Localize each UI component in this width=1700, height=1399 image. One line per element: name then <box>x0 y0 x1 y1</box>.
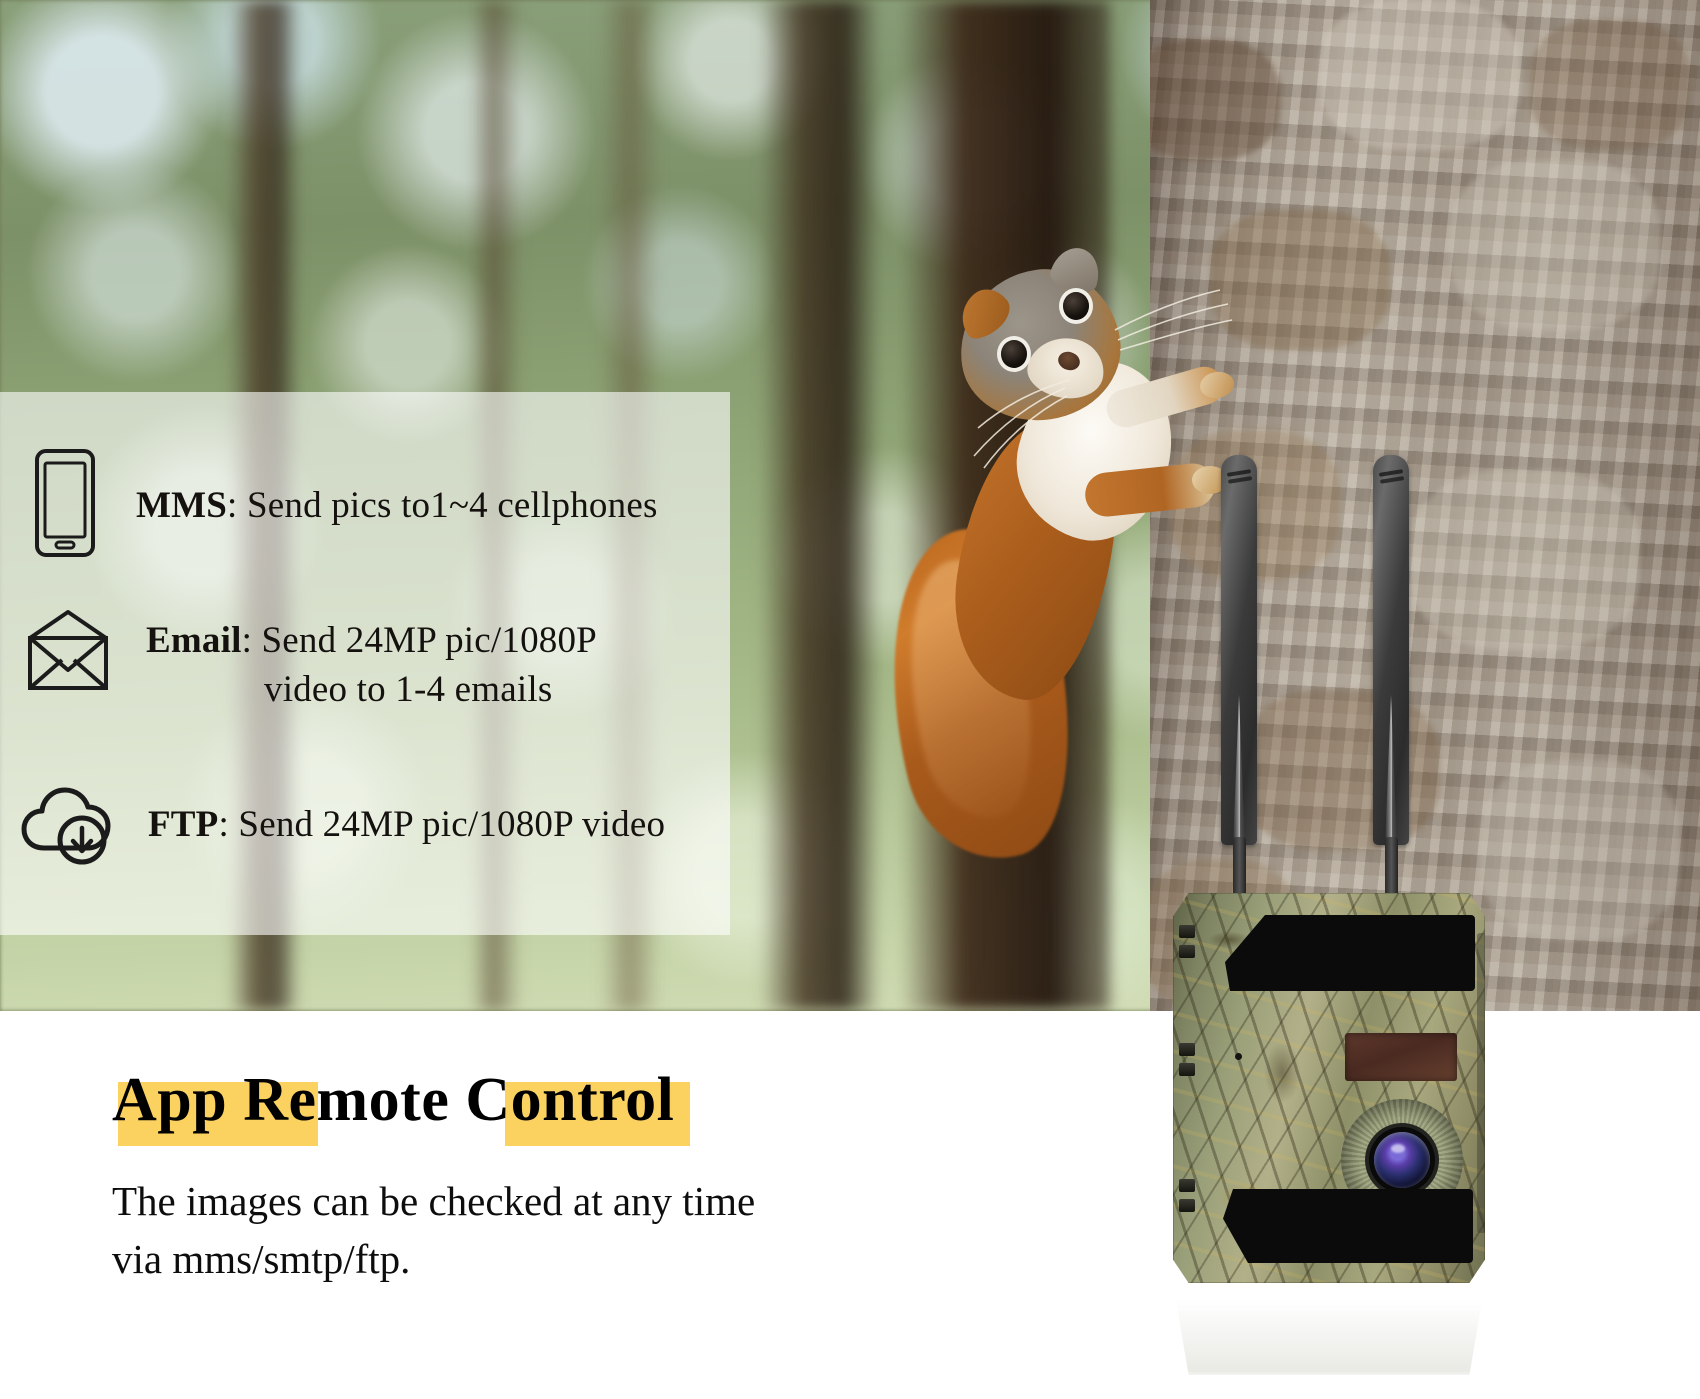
feature-row-ftp: FTP: Send 24MP pic/1080P video <box>20 782 665 873</box>
page-title: App Remote Control <box>112 1065 674 1136</box>
hinge <box>1179 945 1195 958</box>
feature-text-email: Email: Send 24MP pic/1080P video to 1-4 … <box>146 616 597 714</box>
antenna-right-icon <box>1373 455 1409 845</box>
camera-body <box>1173 893 1485 1283</box>
feature-email-line2: video to 1-4 emails <box>146 665 597 714</box>
ir-led-panel-bottom <box>1223 1189 1473 1263</box>
body-line-2: via mms/smtp/ftp. <box>112 1230 755 1288</box>
feature-description-ftp: Send 24MP pic/1080P video <box>229 804 665 845</box>
feature-text-mms: MMS: Send pics to1~4 cellphones <box>136 481 658 530</box>
hinge <box>1179 925 1195 938</box>
feature-separator: : <box>218 804 228 845</box>
feature-row-email: Email: Send 24MP pic/1080P video to 1-4 … <box>22 604 597 714</box>
ir-led-panel-top <box>1225 915 1475 991</box>
camera-lens <box>1374 1132 1430 1188</box>
feature-label-mms: MMS <box>136 485 227 526</box>
feature-row-mms: MMS: Send pics to1~4 cellphones <box>28 447 658 564</box>
feature-email-line1: Email: Send 24MP pic/1080P <box>146 616 597 665</box>
feature-list: MMS: Send pics to1~4 cellphones Email: S… <box>0 392 730 935</box>
page-title-text: App Remote Control <box>112 1066 674 1134</box>
envelope-icon <box>22 604 114 701</box>
antenna-left-icon <box>1221 455 1257 845</box>
body-line-1: The images can be checked at any time <box>112 1172 755 1230</box>
feature-separator: : <box>227 485 237 526</box>
hinge <box>1179 1199 1195 1212</box>
feature-text-ftp: FTP: Send 24MP pic/1080P video <box>148 800 665 849</box>
hinge <box>1179 1179 1195 1192</box>
background-tree-trunk <box>760 0 880 1011</box>
feature-separator: : <box>242 620 252 661</box>
smartphone-icon <box>28 447 102 564</box>
hinge <box>1179 1043 1195 1056</box>
hinge <box>1179 1063 1195 1076</box>
camera-reflection <box>1173 1283 1485 1375</box>
feature-label-email: Email <box>146 620 242 661</box>
trail-camera-product <box>1155 455 1485 1325</box>
pir-sensor-window <box>1345 1033 1457 1081</box>
cloud-download-icon <box>20 782 124 873</box>
feature-email-line1-rest: Send 24MP pic/1080P <box>252 620 597 661</box>
microphone-hole <box>1235 1053 1242 1060</box>
feature-label-ftp: FTP <box>148 804 218 845</box>
feature-description-mms: Send pics to1~4 cellphones <box>238 485 658 526</box>
body-paragraph: The images can be checked at any time vi… <box>112 1172 755 1288</box>
